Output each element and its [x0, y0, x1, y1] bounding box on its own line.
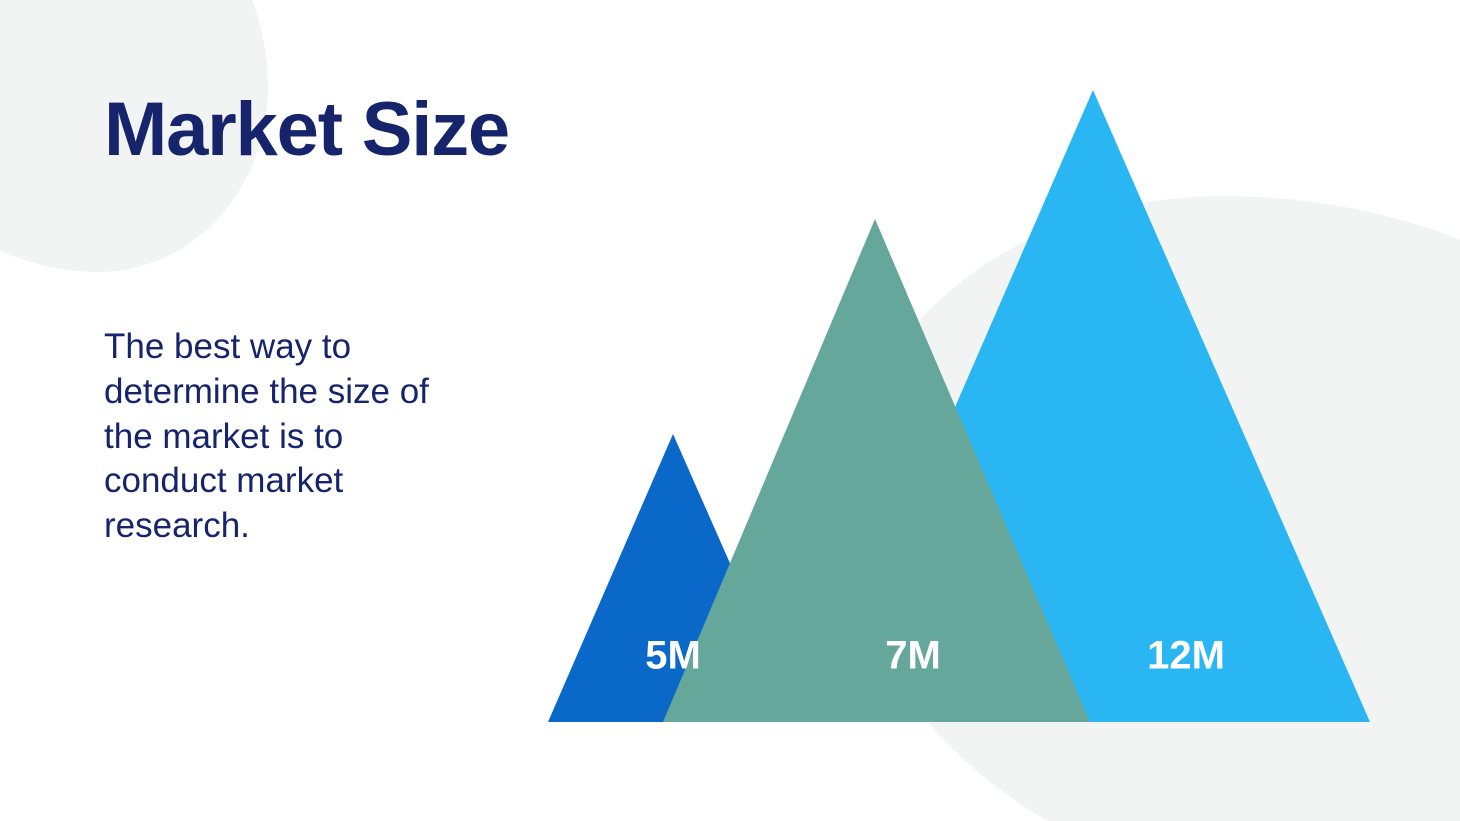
body-paragraph: The best way to determine the size of th…: [104, 325, 454, 549]
slide-canvas: 5M 7M 12M Market Size The best way to de…: [0, 0, 1460, 821]
page-title: Market Size: [104, 92, 509, 168]
peak-value-label-7m: 7M: [885, 634, 941, 678]
peak-value-label-5m: 5M: [645, 634, 701, 678]
peak-value-label-12m: 12M: [1147, 634, 1225, 678]
